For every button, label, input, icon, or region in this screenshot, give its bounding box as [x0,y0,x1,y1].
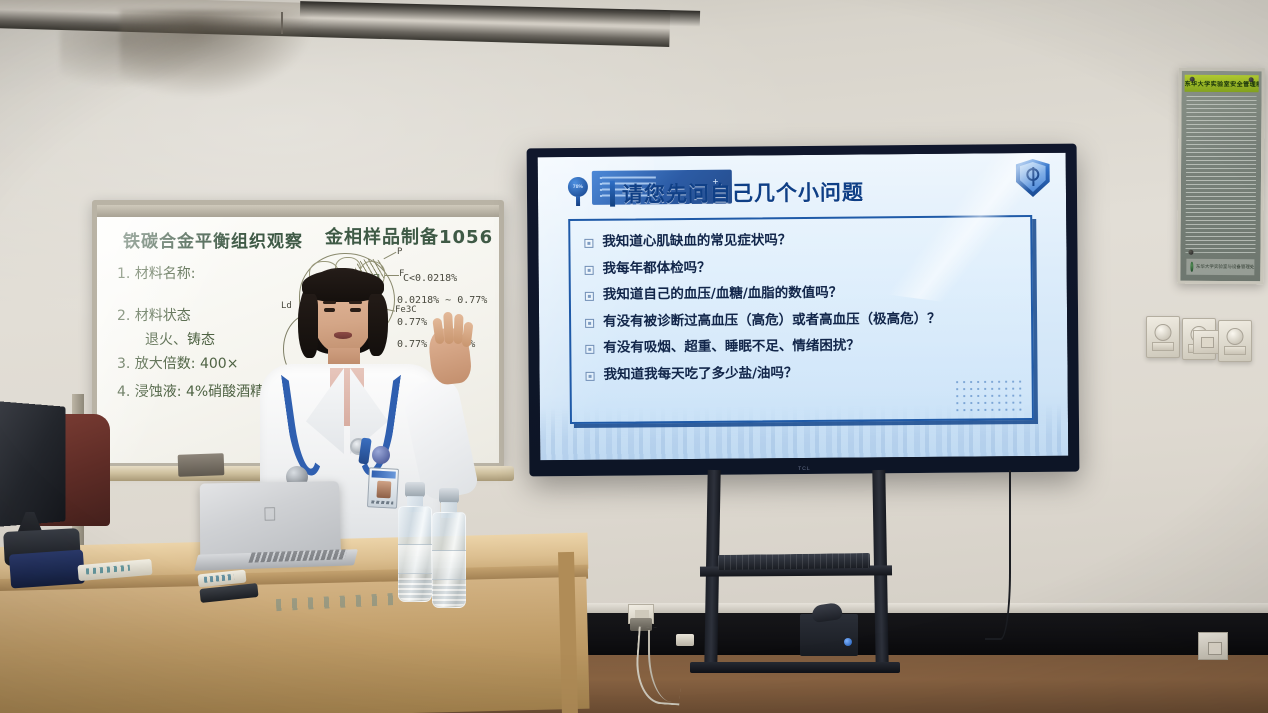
eye-right [350,308,361,312]
bottle-ribs [398,578,432,600]
checkbox-icon [585,345,594,354]
poster-header-text: 东华大学实验室安全管理制度 [1185,79,1259,89]
whiteboard-eraser [178,453,225,477]
mouth [334,332,352,339]
checkbox-icon [585,292,594,301]
lab-safety-poster: 东华大学实验室安全管理制度 东华大学实验室与设备管理处 [1177,68,1265,285]
wireless-keyboard[interactable] [718,553,870,570]
question-text: 我每年都体检吗？ [603,260,711,276]
eyebrow-left [323,301,336,304]
question-item: 有没有被诊断过高血压（高危）或者高血压（极高危）？ [585,311,1027,330]
finger [462,322,474,348]
wall-switch-1[interactable] [1146,316,1180,358]
power-led-icon [844,638,852,646]
checkbox-icon [585,318,594,327]
id-badge [367,467,399,509]
desktop-monitor-rear [0,401,66,527]
tv-power-cable [985,470,1011,640]
question-text: 我知道心肌缺血的常见症状吗？ [602,233,791,250]
question-text: 有没有被诊断过高血压（高危）或者高血压（极高危）？ [603,311,941,329]
poster-pin-bottomleft [1188,250,1193,255]
poster-footer: 东华大学实验室与设备管理处 [1186,259,1254,275]
hair-side-left [298,294,318,358]
question-list: 我知道心肌缺血的常见症状吗？ 我每年都体检吗？ 我知道自己的血压/血糖/血脂的数… [584,231,1027,383]
question-text: 我知道我每天吃了多少盐/油吗？ [603,366,797,383]
slide-dot-decoration [954,378,1026,413]
question-item: 我知道自己的血压/血糖/血脂的数值吗？ [585,284,1027,303]
slide-title: 请您先问自己几个小问题 [622,176,864,208]
badge-percent-text: 78% [568,177,588,197]
title-accent-bar [610,181,615,207]
network-jack-lower [1198,632,1228,660]
eye-left [324,308,335,312]
badge-header-band [372,470,396,478]
poster-pin-topright [1249,77,1254,82]
switch-knob-icon[interactable] [1155,324,1172,341]
poster-pin-topleft [1190,77,1195,82]
presentation-display[interactable]: 78% + 请您先问自己几个小问题 [527,144,1080,477]
badge-text-lines [371,500,393,504]
question-item: 有没有吸烟、超重、睡眠不足、情绪困扰？ [585,337,1027,356]
poster-footer-text: 东华大学实验室与设备管理处 [1196,264,1255,270]
slide-badge-graphic: 78% [568,177,594,207]
wall-switch-3[interactable] [1218,320,1252,362]
question-item: 我每年都体检吗？ [585,258,1027,277]
institution-shield-logo [1016,159,1050,197]
badge-reel-icon [372,446,390,464]
finger [443,312,454,344]
checkbox-icon [584,239,593,248]
eyebrow-right [349,301,362,304]
whiteboard-top-rail [97,205,499,217]
slide-title-row: 78% + 请您先问自己几个小问题 [568,171,1036,215]
question-text: 我知道自己的血压/血糖/血脂的数值吗？ [603,286,843,304]
slide: 78% + 请您先问自己几个小问题 [538,153,1069,461]
classroom-scene: 东华大学实验室安全管理制度 东华大学实验室与设备管理处 铁碳合金平衡组织观察 金… [0,0,1268,713]
poster-body-text [1185,96,1256,253]
display-screen[interactable]: 78% + 请您先问自己几个小问题 [538,153,1069,461]
hair-side-right [368,294,388,356]
bottle-cap [439,488,459,503]
bottle-label [398,544,432,574]
water-bottle-2 [432,488,466,608]
ceiling-hook [281,12,283,34]
badge-stem [576,196,580,206]
blue-bag [9,549,85,588]
bottle-cap [405,482,425,497]
ceiling-water-stain-secondary [60,28,210,88]
question-text: 有没有吸烟、超重、睡眠不足、情绪困扰？ [603,339,860,357]
shield-emblem-icon [1026,168,1039,181]
network-jack-upper [1193,330,1219,354]
tv-brand-label: TCL [798,466,811,472]
apple-logo-icon:  [261,504,279,525]
poster-seal-icon [1190,262,1193,272]
poster-header-band: 东华大学实验室安全管理制度 [1185,75,1259,93]
badge-circle-icon: 78% [568,177,588,197]
checkbox-icon [586,371,595,380]
tv-stand-base [690,662,900,673]
bottle-label [432,550,466,580]
switch-slot [1224,346,1246,355]
question-item: 我知道心肌缺血的常见症状吗？ [584,231,1026,250]
power-adapter [676,634,694,646]
switch-slot [1152,342,1174,351]
water-bottle-1 [398,482,432,602]
checkbox-icon [585,265,594,274]
bottle-ribs [432,584,466,606]
switch-knob-icon[interactable] [1227,328,1244,345]
badge-photo [376,481,391,499]
